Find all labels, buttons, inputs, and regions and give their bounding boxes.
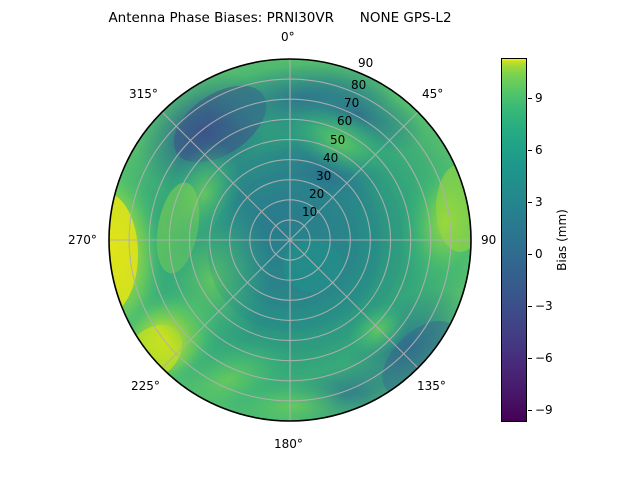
- colorbar-ticklabel-9: 9: [535, 92, 543, 104]
- colorbar-gradient: [501, 58, 527, 422]
- colorbar-tick-3: [528, 202, 532, 203]
- radius-tick-70: 70: [344, 96, 359, 110]
- colorbar-tick-6: [528, 150, 532, 151]
- colorbar-ticklabel-0: 0: [535, 248, 543, 260]
- colorbar-ticklabel-n6: −6: [535, 352, 553, 364]
- angle-tick-270: 270°: [68, 233, 97, 247]
- colorbar-ticklabel-3: 3: [535, 196, 543, 208]
- colorbar-tick-9: [528, 98, 532, 99]
- colorbar-ticklabel-6: 6: [535, 144, 543, 156]
- angle-tick-135: 135°: [417, 379, 446, 393]
- radius-tick-60: 60: [337, 114, 352, 128]
- radius-tick-10: 10: [302, 205, 317, 219]
- polar-grid: [109, 59, 471, 421]
- radius-tick-20: 20: [309, 187, 324, 201]
- radius-tick-80: 80: [351, 78, 366, 92]
- angle-tick-90: 90: [481, 233, 496, 247]
- colorbar-ticklabel-n9: −9: [535, 404, 553, 416]
- figure-canvas: Antenna Phase Biases: PRNI30VR NONE GPS-…: [0, 0, 640, 480]
- colorbar-tick-n6: [528, 358, 532, 359]
- angle-tick-225: 225°: [131, 379, 160, 393]
- polar-plot-axes[interactable]: [108, 58, 472, 422]
- radius-tick-40: 40: [323, 151, 338, 165]
- colorbar-tick-n3: [528, 306, 532, 307]
- angle-tick-45: 45°: [422, 87, 443, 101]
- colorbar[interactable]: 9 6 3 0 −3 −6 −9: [501, 58, 527, 422]
- angle-tick-180: 180°: [274, 437, 303, 451]
- colorbar-tick-0: [528, 254, 532, 255]
- colorbar-ticklabel-n3: −3: [535, 300, 553, 312]
- colorbar-tick-n9: [528, 410, 532, 411]
- angle-tick-0: 0°: [281, 30, 295, 44]
- radius-tick-30: 30: [316, 169, 331, 183]
- colorbar-axis-label: Bias (mm): [556, 209, 568, 271]
- page-title: Antenna Phase Biases: PRNI30VR NONE GPS-…: [0, 9, 560, 27]
- radius-tick-90: 90: [358, 56, 373, 70]
- angle-tick-315: 315°: [129, 87, 158, 101]
- radius-tick-50: 50: [330, 133, 345, 147]
